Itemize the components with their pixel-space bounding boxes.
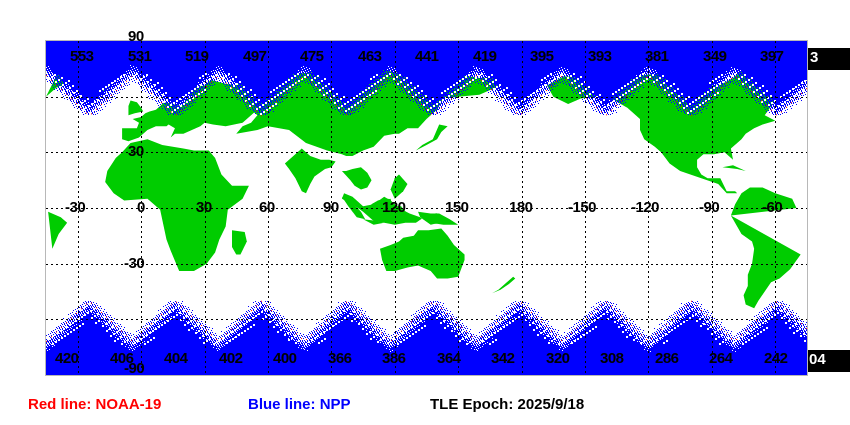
- lon-tick-8: -150: [568, 199, 596, 216]
- figure-root: -300306090120150180-150-120-90-609030-30…: [0, 0, 850, 425]
- legend-blue-label: Blue line:: [248, 396, 316, 413]
- legend-item-noaa19: Red line: NOAA-19: [28, 396, 161, 413]
- orbit-number-bottom-7: 364: [437, 350, 461, 367]
- lon-tick-0: -30: [65, 199, 85, 216]
- orbit-number-bottom-0: 420: [55, 350, 79, 367]
- lon-tick-4: 90: [323, 199, 339, 216]
- legend-red-value: NOAA-19: [96, 396, 162, 413]
- lon-tick-9: -120: [631, 199, 659, 216]
- lon-tick-6: 150: [445, 199, 469, 216]
- world-map-canvas: [46, 41, 807, 375]
- lat-tick-0: 90: [128, 28, 144, 45]
- lat-tick-1: 30: [128, 143, 144, 160]
- lon-tick-7: 180: [509, 199, 533, 216]
- orbit-number-top-11: 349: [703, 48, 727, 65]
- orbit-number-top-9: 393: [588, 48, 612, 65]
- map-raster: [46, 41, 807, 375]
- orbit-number-top-3: 497: [243, 48, 267, 65]
- orbit-number-top-5: 463: [358, 48, 382, 65]
- lon-tick-10: -90: [699, 199, 719, 216]
- bottom-right-clipped-number: 04: [808, 350, 850, 372]
- orbit-number-bottom-10: 308: [600, 350, 624, 367]
- orbit-number-bottom-2: 404: [164, 350, 188, 367]
- bottom-clipped-label: 04: [809, 351, 826, 368]
- orbit-number-top-0: 553: [70, 48, 94, 65]
- orbit-number-bottom-12: 264: [709, 350, 733, 367]
- orbit-number-bottom-4: 400: [273, 350, 297, 367]
- top-right-clipped-number: 3: [808, 48, 850, 70]
- orbit-number-top-6: 441: [415, 48, 439, 65]
- orbit-number-bottom-3: 402: [219, 350, 243, 367]
- orbit-number-top-1: 531: [128, 48, 152, 65]
- lon-tick-1: 0: [137, 199, 145, 216]
- lon-tick-3: 60: [259, 199, 275, 216]
- orbit-number-top-2: 519: [185, 48, 209, 65]
- orbit-number-top-12: 397: [760, 48, 784, 65]
- orbit-number-top-10: 381: [645, 48, 669, 65]
- lon-tick-2: 30: [196, 199, 212, 216]
- orbit-number-bottom-9: 320: [546, 350, 570, 367]
- orbit-number-top-8: 395: [530, 48, 554, 65]
- orbit-number-bottom-8: 342: [491, 350, 515, 367]
- legend: Red line: NOAA-19 Blue line: NPP TLE Epo…: [0, 396, 850, 422]
- legend-item-tle-epoch: TLE Epoch: 2025/9/18: [430, 396, 584, 413]
- orbit-number-top-7: 419: [473, 48, 497, 65]
- lon-tick-5: 120: [382, 199, 406, 216]
- legend-red-label: Red line:: [28, 396, 91, 413]
- epoch-label: TLE Epoch:: [430, 396, 513, 413]
- orbit-number-bottom-13: 242: [764, 350, 788, 367]
- orbit-number-bottom-11: 286: [655, 350, 679, 367]
- top-clipped-label: 3: [810, 49, 818, 66]
- orbit-number-bottom-5: 366: [328, 350, 352, 367]
- epoch-value: 2025/9/18: [518, 396, 585, 413]
- orbit-number-bottom-1: 406: [110, 350, 134, 367]
- lon-tick-11: -60: [762, 199, 782, 216]
- orbit-number-top-4: 475: [300, 48, 324, 65]
- orbit-number-bottom-6: 386: [382, 350, 406, 367]
- lat-tick-2: -30: [124, 255, 144, 272]
- legend-blue-value: NPP: [320, 396, 351, 413]
- legend-item-npp: Blue line: NPP: [248, 396, 351, 413]
